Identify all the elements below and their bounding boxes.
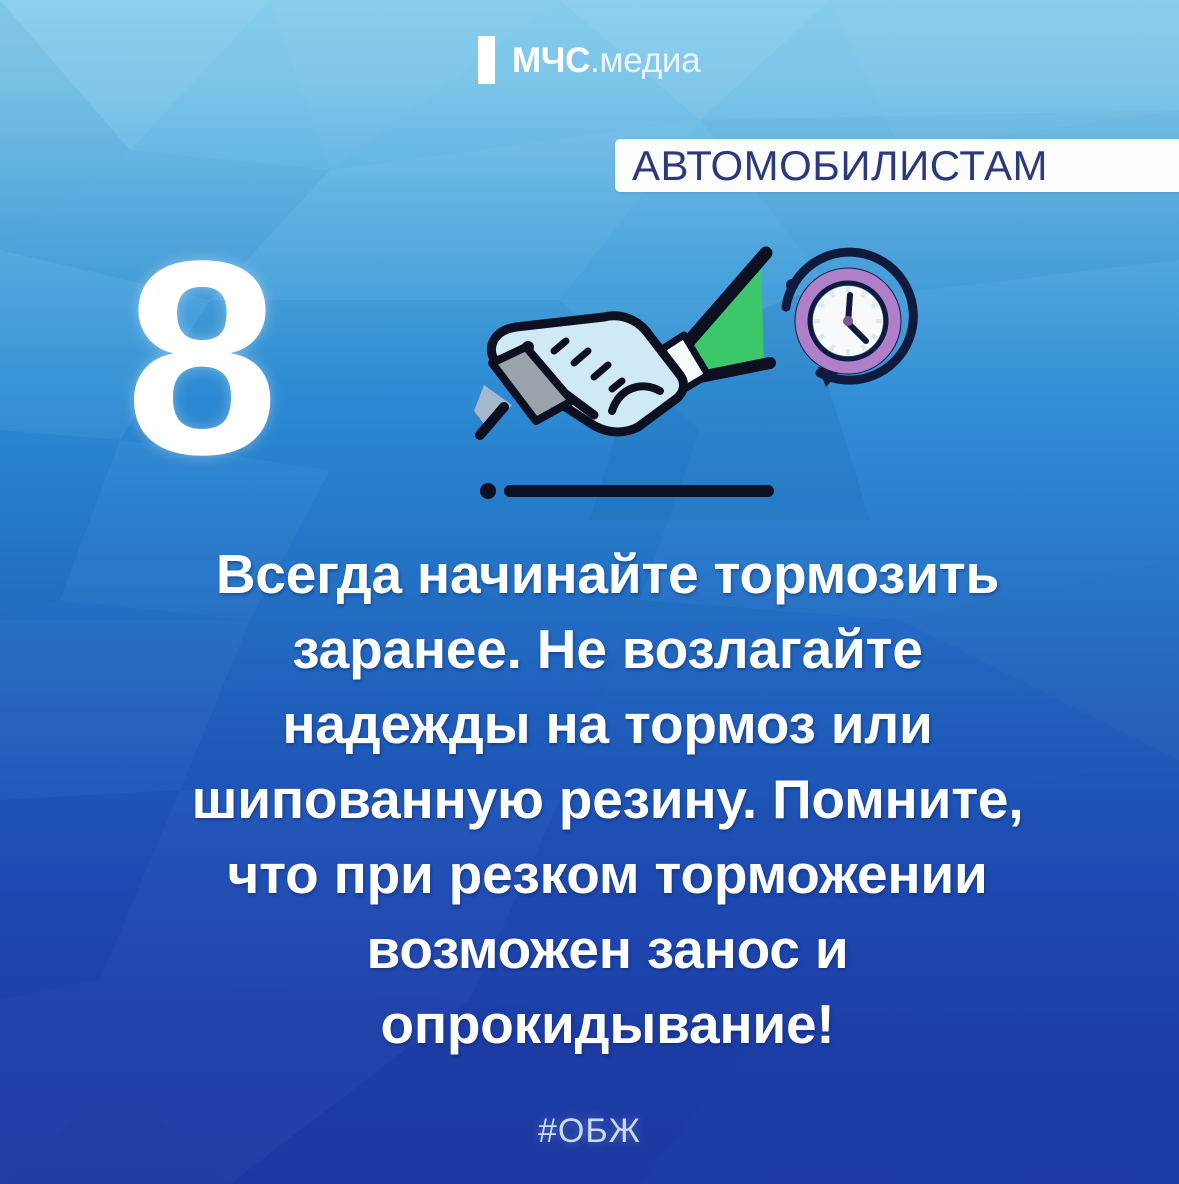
tip-number: 8 bbox=[85, 232, 315, 486]
tip-text-line: шипованную резину. Помните, bbox=[60, 762, 1155, 837]
category-banner: АВТОМОБИЛИСТАМ bbox=[615, 139, 1179, 192]
tip-text: Всегда начинайте тормозить заранее. Не в… bbox=[60, 537, 1155, 1062]
logo-primary-text: МЧС bbox=[512, 41, 590, 80]
category-banner-label: АВТОМОБИЛИСТАМ bbox=[615, 145, 1048, 187]
logo-secondary-text: .медиа bbox=[590, 41, 700, 80]
logo-wordmark: МЧС.медиа bbox=[512, 43, 700, 78]
tip-text-line: заранее. Не возлагайте bbox=[60, 612, 1155, 687]
tip-text-line: что при резком торможении bbox=[60, 837, 1155, 912]
tip-text-line: возможен занос и bbox=[60, 912, 1155, 987]
tip-text-line: опрокидывание! bbox=[60, 987, 1155, 1062]
logo-bar-icon bbox=[478, 36, 495, 84]
brand-logo: МЧС.медиа bbox=[478, 36, 700, 84]
footer-hashtag: #ОБЖ bbox=[0, 1112, 1179, 1151]
tip-text-line: Всегда начинайте тормозить bbox=[60, 537, 1155, 612]
tip-text-line: надежды на тормоз или bbox=[60, 687, 1155, 762]
infographic-poster: МЧС.медиа АВТОМОБИЛИСТАМ 8 bbox=[0, 0, 1179, 1184]
foot-brake-pedal-illustration bbox=[470, 235, 950, 520]
